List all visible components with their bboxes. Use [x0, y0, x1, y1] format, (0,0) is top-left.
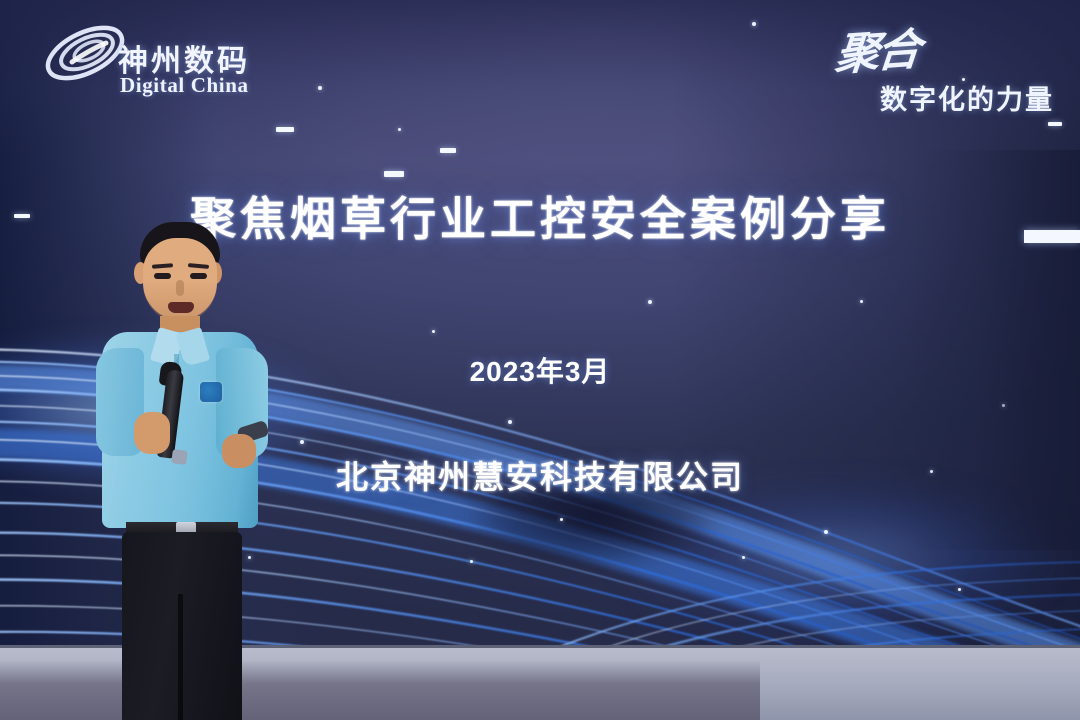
conference-photo: 神州数码 Digital China 聚合 数字化的力量 聚焦烟草行业工控安全案… [0, 0, 1080, 720]
light-particle [300, 440, 304, 444]
brand-name-en: Digital China [120, 73, 249, 98]
speaker-mouth [168, 302, 194, 313]
digital-china-swirl-logo [42, 22, 128, 84]
speaker-chest-logo [200, 382, 222, 402]
light-particle [958, 588, 961, 591]
light-particle [752, 22, 756, 26]
light-particle [742, 556, 745, 559]
light-dash [276, 127, 294, 132]
light-dash [1048, 122, 1062, 126]
light-particle [398, 128, 401, 131]
light-particle [860, 300, 863, 303]
speaker-hand-holding-mic [134, 412, 170, 454]
speaker-hand-right [222, 434, 256, 468]
light-particle [470, 560, 473, 563]
brand-logo: 神州数码 Digital China [42, 16, 272, 90]
light-dash [440, 148, 456, 153]
light-particle [824, 530, 828, 534]
microphone-tip [171, 449, 188, 465]
light-particle [508, 420, 512, 424]
speaker-nose [176, 280, 184, 296]
light-particle [560, 518, 563, 521]
slogan-calligraphy: 聚合 [833, 13, 921, 83]
light-particle [318, 86, 322, 90]
light-dash [384, 171, 404, 177]
foreground-table-area [0, 560, 300, 720]
event-slogan: 聚合 数字化的力量 [788, 14, 1058, 112]
speaker-eye-left [154, 273, 171, 279]
light-particle [432, 330, 435, 333]
speaker-eye-right [190, 273, 207, 279]
slogan-subtitle: 数字化的力量 [880, 78, 1054, 117]
light-particle [648, 300, 652, 304]
